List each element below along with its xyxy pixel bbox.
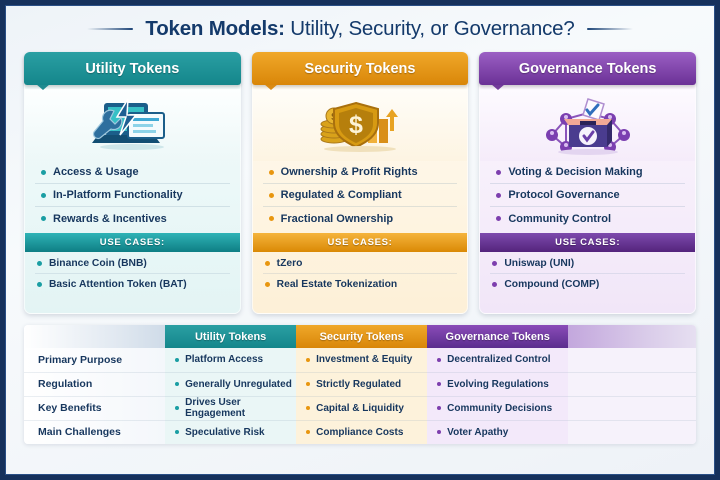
feature-label: Community Control: [508, 213, 611, 225]
card-security-use-cases: tZero Real Estate Tokenization: [253, 252, 468, 298]
cell-security: Strictly Regulated: [296, 372, 427, 396]
card-utility-use-cases: Binance Coin (BNB) Basic Attention Token…: [25, 252, 240, 298]
row-label: Regulation: [24, 372, 165, 396]
feature-label: Protocol Governance: [508, 189, 619, 201]
card-governance-features: Voting & Decision Making Protocol Govern…: [480, 161, 695, 230]
cell-extra: [568, 420, 696, 444]
bullet-icon: [306, 406, 310, 410]
cell-text: Community Decisions: [447, 403, 552, 414]
use-case-label: Uniswap (UNI): [504, 258, 574, 269]
laptop-wrench-lightning-icon: [25, 89, 240, 161]
infographic-frame: Token Models: Utility, Security, or Gove…: [5, 5, 715, 475]
bullet-icon: [37, 261, 42, 266]
bullet-icon: [175, 358, 179, 362]
list-item: Ownership & Profit Rights: [263, 161, 458, 184]
bullet-icon: [437, 358, 441, 362]
list-item: tZero: [263, 254, 458, 274]
cell-text: Platform Access: [185, 354, 263, 365]
cell-text: Compliance Costs: [316, 427, 403, 438]
cell-text: Decentralized Control: [447, 354, 550, 365]
bullet-icon: [492, 261, 497, 266]
page-title-row: Token Models: Utility, Security, or Gove…: [6, 6, 714, 52]
cell-text: Speculative Risk: [185, 427, 264, 438]
card-utility-features: Access & Usage In-Platform Functionality…: [25, 161, 240, 230]
bullet-icon: [269, 193, 274, 198]
bullet-icon: [41, 170, 46, 175]
row-label: Primary Purpose: [24, 348, 165, 372]
feature-label: Regulated & Compliant: [281, 189, 402, 201]
cell-utility: Generally Unregulated: [165, 372, 296, 396]
card-security-tokens[interactable]: Security Tokens $: [252, 52, 469, 314]
bullet-icon: [175, 430, 179, 434]
svg-text:$: $: [349, 111, 363, 139]
table-header-security: Security Tokens: [296, 325, 427, 348]
bullet-icon: [437, 430, 441, 434]
card-security-use-cases-label: USE CASES:: [253, 233, 468, 252]
bullet-icon: [265, 282, 270, 287]
bullet-icon: [306, 358, 310, 362]
token-cards: Utility Tokens: [6, 52, 714, 314]
card-utility-header: Utility Tokens: [24, 52, 241, 85]
bullet-icon: [41, 193, 46, 198]
bullet-icon: [496, 170, 501, 175]
bullet-icon: [496, 216, 501, 221]
feature-label: Rewards & Incentives: [53, 213, 167, 225]
cell-text: Evolving Regulations: [447, 379, 549, 390]
bullet-icon: [175, 406, 179, 410]
bullet-icon: [496, 193, 501, 198]
table-header: Utility Tokens Security Tokens Governanc…: [24, 325, 696, 348]
list-item: Fractional Ownership: [263, 207, 458, 230]
table-header-utility: Utility Tokens: [165, 325, 296, 348]
cell-utility: Speculative Risk: [165, 420, 296, 444]
card-governance-body: Voting & Decision Making Protocol Govern…: [479, 82, 696, 314]
use-case-label: Compound (COMP): [504, 279, 599, 290]
bullet-icon: [37, 282, 42, 287]
row-label: Main Challenges: [24, 420, 165, 444]
use-case-label: Real Estate Tokenization: [277, 279, 398, 290]
feature-label: Fractional Ownership: [281, 213, 393, 225]
list-item: Community Control: [490, 207, 685, 230]
card-governance-header: Governance Tokens: [479, 52, 696, 85]
card-utility-body: Access & Usage In-Platform Functionality…: [24, 82, 241, 314]
page-title: Token Models: Utility, Security, or Gove…: [145, 17, 574, 41]
bullet-icon: [306, 430, 310, 434]
title-dash-left-icon: [87, 28, 133, 30]
cell-text: Investment & Equity: [316, 354, 412, 365]
bullet-icon: [265, 261, 270, 266]
list-item: Uniswap (UNI): [490, 254, 685, 274]
table-row: Regulation Generally Unregulated Strictl…: [24, 372, 696, 396]
list-item: Voting & Decision Making: [490, 161, 685, 184]
list-item: Rewards & Incentives: [35, 207, 230, 230]
card-utility-tokens[interactable]: Utility Tokens: [24, 52, 241, 314]
table-body: Primary Purpose Platform Access Investme…: [24, 348, 696, 444]
table-row: Key Benefits Drives User Engagement Capi…: [24, 396, 696, 420]
list-item: Protocol Governance: [490, 184, 685, 207]
list-item: In-Platform Functionality: [35, 184, 230, 207]
cell-security: Investment & Equity: [296, 348, 427, 372]
list-item: Basic Attention Token (BAT): [35, 274, 230, 294]
row-label: Key Benefits: [24, 396, 165, 420]
bullet-icon: [175, 382, 179, 386]
use-case-label: Basic Attention Token (BAT): [49, 279, 187, 290]
table-header-governance: Governance Tokens: [427, 325, 568, 348]
cell-utility: Platform Access: [165, 348, 296, 372]
card-governance-tokens[interactable]: Governance Tokens: [479, 52, 696, 314]
list-item: Regulated & Compliant: [263, 184, 458, 207]
cell-text: Strictly Regulated: [316, 379, 401, 390]
cell-text: Capital & Liquidity: [316, 403, 404, 414]
feature-label: In-Platform Functionality: [53, 189, 183, 201]
table-header-extra: [568, 325, 696, 348]
list-item: Binance Coin (BNB): [35, 254, 230, 274]
title-dash-right-icon: [587, 28, 633, 30]
cell-governance: Voter Apathy: [427, 420, 568, 444]
list-item: Compound (COMP): [490, 274, 685, 294]
list-item: Real Estate Tokenization: [263, 274, 458, 294]
feature-label: Access & Usage: [53, 166, 139, 178]
card-security-body: $ $ Ownership & Profit Rights Regulated …: [252, 82, 469, 314]
comparison-table-wrapper: Utility Tokens Security Tokens Governanc…: [24, 325, 696, 444]
cell-text: Generally Unregulated: [185, 379, 292, 390]
bullet-icon: [437, 382, 441, 386]
bullet-icon: [269, 170, 274, 175]
use-case-label: Binance Coin (BNB): [49, 258, 147, 269]
feature-label: Ownership & Profit Rights: [281, 166, 418, 178]
bullet-icon: [437, 406, 441, 410]
bullet-icon: [41, 216, 46, 221]
table-header-blank: [24, 325, 165, 348]
cell-governance: Decentralized Control: [427, 348, 568, 372]
cell-governance: Community Decisions: [427, 396, 568, 420]
list-item: Access & Usage: [35, 161, 230, 184]
page-title-rest: Utility, Security, or Governance?: [285, 17, 575, 40]
cell-security: Compliance Costs: [296, 420, 427, 444]
use-case-label: tZero: [277, 258, 303, 269]
card-security-header: Security Tokens: [252, 52, 469, 85]
ballot-box-network-icon: [480, 89, 695, 161]
cell-governance: Evolving Regulations: [427, 372, 568, 396]
cell-security: Capital & Liquidity: [296, 396, 427, 420]
shield-dollar-coins-chart-icon: $ $: [253, 89, 468, 161]
bullet-icon: [306, 382, 310, 386]
cell-text: Drives User Engagement: [185, 397, 296, 419]
table-header-row: Utility Tokens Security Tokens Governanc…: [24, 325, 696, 348]
bullet-icon: [269, 216, 274, 221]
comparison-table: Utility Tokens Security Tokens Governanc…: [24, 325, 696, 444]
card-governance-use-cases: Uniswap (UNI) Compound (COMP): [480, 252, 695, 298]
feature-label: Voting & Decision Making: [508, 166, 642, 178]
cell-utility: Drives User Engagement: [165, 396, 296, 420]
card-governance-use-cases-label: USE CASES:: [480, 233, 695, 252]
bullet-icon: [492, 282, 497, 287]
table-row: Primary Purpose Platform Access Investme…: [24, 348, 696, 372]
cell-extra: [568, 372, 696, 396]
cell-extra: [568, 348, 696, 372]
cell-text: Voter Apathy: [447, 427, 508, 438]
page-title-bold: Token Models:: [145, 17, 284, 40]
cell-extra: [568, 396, 696, 420]
card-security-features: Ownership & Profit Rights Regulated & Co…: [253, 161, 468, 230]
table-row: Main Challenges Speculative Risk Complia…: [24, 420, 696, 444]
card-utility-use-cases-label: USE CASES:: [25, 233, 240, 252]
